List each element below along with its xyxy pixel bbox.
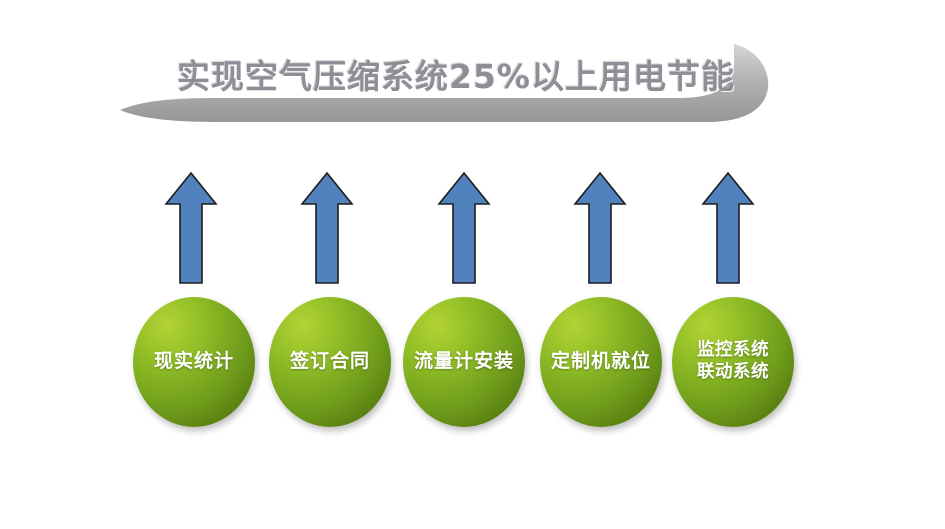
process-step-3[interactable]: 流量计安装 bbox=[403, 297, 525, 427]
title-banner: 实现空气压缩系统25%以上用电节能 bbox=[118, 36, 786, 144]
process-step-label-1: 现实统计 bbox=[154, 350, 234, 374]
up-arrow-icon-1 bbox=[163, 170, 219, 286]
process-step-2[interactable]: 签订合同 bbox=[269, 297, 391, 427]
process-step-4[interactable]: 定制机就位 bbox=[540, 297, 662, 427]
up-arrow-icon-3 bbox=[436, 170, 492, 286]
process-step-1[interactable]: 现实统计 bbox=[133, 297, 255, 427]
slide-canvas: 实现空气压缩系统25%以上用电节能 现实统计 签订合同 流量计安装 bbox=[0, 0, 945, 529]
up-arrow-icon-5 bbox=[700, 170, 756, 286]
process-step-label-3: 流量计安装 bbox=[414, 350, 514, 374]
process-step-label-5: 监控系统 联动系统 bbox=[697, 340, 769, 384]
up-arrow-icon-4 bbox=[572, 170, 628, 286]
process-step-5[interactable]: 监控系统 联动系统 bbox=[672, 297, 794, 427]
page-title: 实现空气压缩系统25%以上用电节能 bbox=[156, 50, 756, 104]
process-step-label-2: 签订合同 bbox=[290, 350, 370, 374]
process-step-label-4: 定制机就位 bbox=[551, 350, 651, 374]
up-arrow-icon-2 bbox=[299, 170, 355, 286]
